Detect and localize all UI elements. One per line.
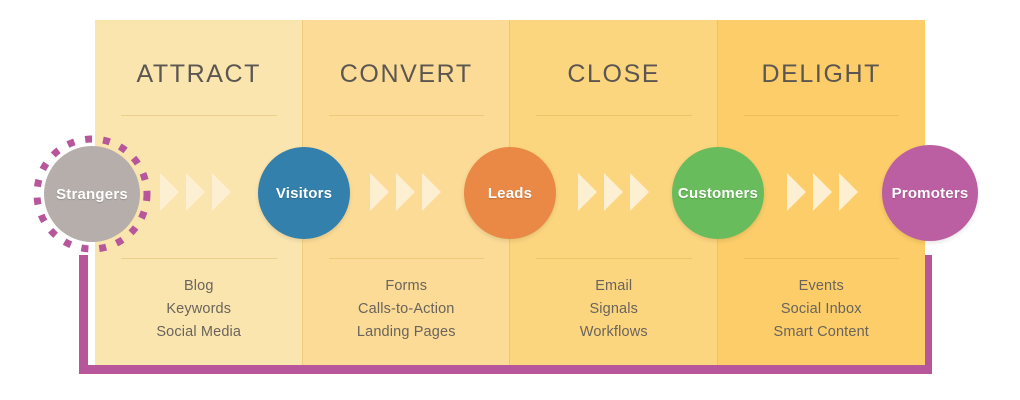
- chevron-right-icon: [604, 173, 623, 211]
- tool-item: Keywords: [95, 298, 303, 321]
- tool-item: Landing Pages: [303, 321, 511, 344]
- tool-list-convert: Forms Calls-to-Action Landing Pages: [303, 275, 511, 344]
- divider-bottom: [121, 258, 277, 259]
- chevron-right-icon: [370, 173, 389, 211]
- chevron-right-icon: [160, 173, 179, 211]
- node-strangers[interactable]: Strangers: [44, 146, 140, 242]
- arrow-group-close: [578, 173, 649, 211]
- chevron-right-icon: [787, 173, 806, 211]
- divider-bottom: [329, 258, 485, 259]
- tool-item: Social Media: [95, 321, 303, 344]
- arrow-group-convert: [370, 173, 441, 211]
- arrow-group-attract: [160, 173, 231, 211]
- divider-top: [744, 115, 900, 116]
- chevron-right-icon: [396, 173, 415, 211]
- tool-item: Calls-to-Action: [303, 298, 511, 321]
- tool-item: Social Inbox: [718, 298, 926, 321]
- node-label: Strangers: [56, 186, 128, 203]
- node-visitors[interactable]: Visitors: [258, 147, 350, 239]
- chevron-right-icon: [212, 173, 231, 211]
- chevron-right-icon: [839, 173, 858, 211]
- node-label: Leads: [488, 185, 532, 202]
- tool-list-close: Email Signals Workflows: [510, 275, 718, 344]
- divider-bottom: [744, 258, 900, 259]
- chevron-right-icon: [813, 173, 832, 211]
- chevron-right-icon: [422, 173, 441, 211]
- tool-item: Blog: [95, 275, 303, 298]
- node-label: Promoters: [892, 185, 969, 202]
- chevron-right-icon: [186, 173, 205, 211]
- frame-border-left: [79, 255, 88, 374]
- node-customers[interactable]: Customers: [672, 147, 764, 239]
- arrow-group-delight: [787, 173, 858, 211]
- chevron-right-icon: [578, 173, 597, 211]
- stage-title-delight: DELIGHT: [718, 62, 926, 87]
- tool-item: Forms: [303, 275, 511, 298]
- frame-border-bottom: [79, 365, 932, 374]
- stage-title-attract: ATTRACT: [95, 62, 303, 87]
- divider-top: [329, 115, 485, 116]
- stage-title-close: CLOSE: [510, 62, 718, 87]
- tool-item: Workflows: [510, 321, 718, 344]
- tool-list-delight: Events Social Inbox Smart Content: [718, 275, 926, 344]
- tool-item: Events: [718, 275, 926, 298]
- node-label: Visitors: [276, 185, 332, 202]
- stage-title-convert: CONVERT: [303, 62, 511, 87]
- chevron-right-icon: [630, 173, 649, 211]
- tool-item: Smart Content: [718, 321, 926, 344]
- tool-item: Signals: [510, 298, 718, 321]
- tool-item: Email: [510, 275, 718, 298]
- node-promoters[interactable]: Promoters: [882, 145, 978, 241]
- node-leads[interactable]: Leads: [464, 147, 556, 239]
- divider-top: [536, 115, 692, 116]
- inbound-methodology-diagram: ATTRACT Blog Keywords Social Media CONVE…: [0, 0, 1020, 400]
- divider-bottom: [536, 258, 692, 259]
- tool-list-attract: Blog Keywords Social Media: [95, 275, 303, 344]
- node-label: Customers: [678, 185, 758, 202]
- divider-top: [121, 115, 277, 116]
